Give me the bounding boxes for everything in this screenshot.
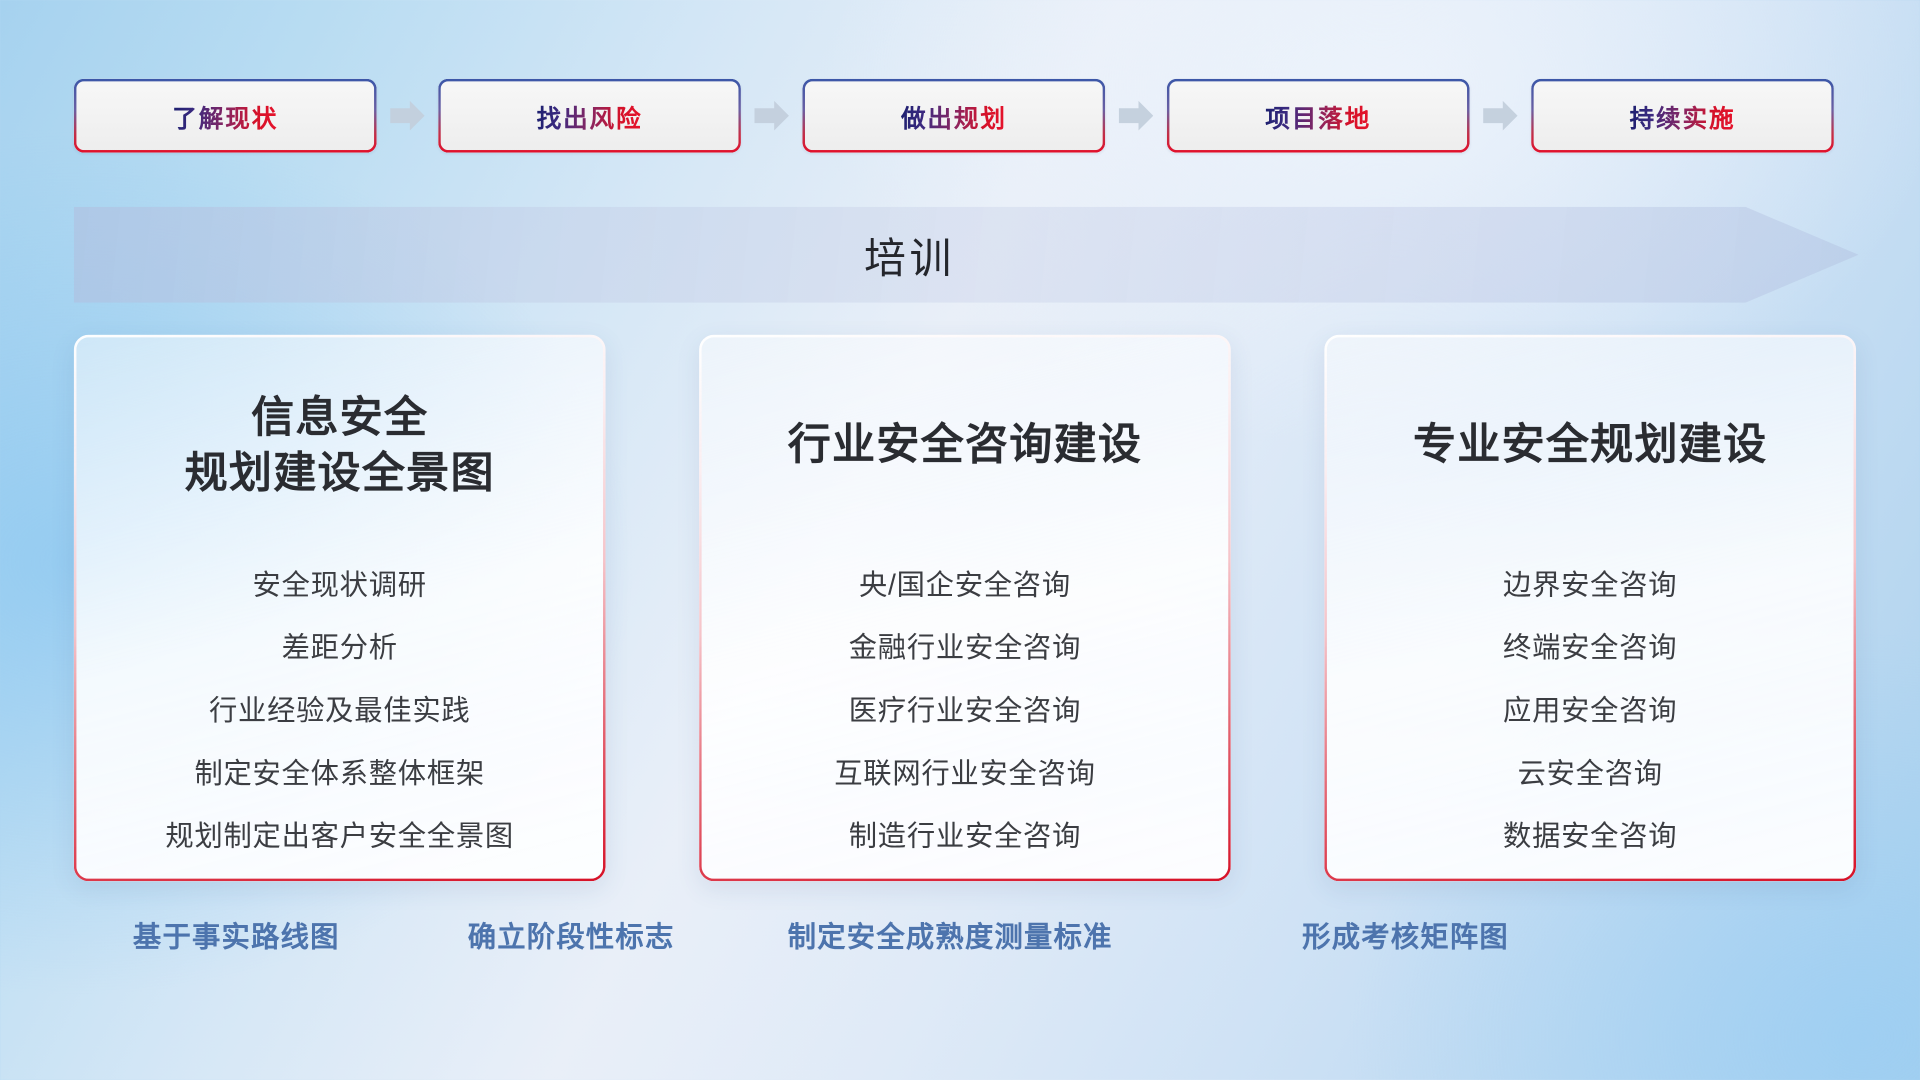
step-box-5[interactable]: 持续实施 xyxy=(1531,79,1834,153)
card-3-title-line-1: 专业安全规划建设 xyxy=(1361,418,1819,474)
list-item: 央/国企安全咨询 xyxy=(859,561,1071,603)
footer-label-4: 形成考核矩阵图 xyxy=(1302,913,1509,955)
footer-label-row: 基于事实路线图 确立阶段性标志 制定安全成熟度测量标准 形成考核矩阵图 xyxy=(0,913,1920,975)
list-item: 金融行业安全咨询 xyxy=(849,624,1081,666)
list-item: 安全现状调研 xyxy=(253,561,427,603)
list-item: 应用安全咨询 xyxy=(1503,687,1677,729)
card-3-title: 专业安全规划建设 xyxy=(1361,389,1819,502)
step-label-4: 项目落地 xyxy=(1265,98,1371,134)
arrow-right-icon-1 xyxy=(390,101,424,131)
list-item: 数据安全咨询 xyxy=(1503,812,1677,854)
list-item: 云安全咨询 xyxy=(1518,750,1663,792)
step-box-3[interactable]: 做出规划 xyxy=(802,79,1105,153)
list-item: 制定安全体系整体框架 xyxy=(194,750,484,792)
card-1-title-line-1: 信息安全 xyxy=(111,390,569,446)
step-label-5: 持续实施 xyxy=(1630,98,1736,134)
list-item: 制造行业安全咨询 xyxy=(849,812,1081,854)
step-box-4[interactable]: 项目落地 xyxy=(1167,79,1470,153)
card-3[interactable]: 专业安全规划建设 边界安全咨询 终端安全咨询 应用安全咨询 云安全咨询 数据安全… xyxy=(1324,335,1856,881)
card-2-list: 央/国企安全咨询 金融行业安全咨询 医疗行业安全咨询 互联网行业安全咨询 制造行… xyxy=(736,561,1194,854)
list-item: 边界安全咨询 xyxy=(1503,561,1677,603)
list-item: 规划制定出客户安全全景图 xyxy=(165,812,514,854)
training-banner: 培训 xyxy=(74,207,1859,303)
card-1-list: 安全现状调研 差距分析 行业经验及最佳实践 制定安全体系整体框架 规划制定出客户… xyxy=(111,561,569,854)
card-2[interactable]: 行业安全咨询建设 央/国企安全咨询 金融行业安全咨询 医疗行业安全咨询 互联网行… xyxy=(699,335,1231,881)
card-3-list: 边界安全咨询 终端安全咨询 应用安全咨询 云安全咨询 数据安全咨询 xyxy=(1361,561,1819,854)
process-step-row: 了解现状 找出风险 做出规划 项目落地 持续实施 xyxy=(74,79,1856,153)
step-label-3: 做出规划 xyxy=(901,98,1007,134)
footer-label-3: 制定安全成熟度测量标准 xyxy=(788,913,1113,955)
arrow-right-icon-4 xyxy=(1483,101,1517,131)
slide-stage: 了解现状 找出风险 做出规划 项目落地 持续实施 培训 xyxy=(0,0,1920,1080)
card-2-title: 行业安全咨询建设 xyxy=(736,389,1194,502)
step-box-1[interactable]: 了解现状 xyxy=(74,79,377,153)
footer-label-2: 确立阶段性标志 xyxy=(468,913,675,955)
arrow-right-icon-3 xyxy=(1119,101,1153,131)
list-item: 医疗行业安全咨询 xyxy=(849,687,1081,729)
step-label-2: 找出风险 xyxy=(537,98,643,134)
banner-title: 培训 xyxy=(74,207,1745,303)
arrow-right-icon-2 xyxy=(754,101,788,131)
list-item: 互联网行业安全咨询 xyxy=(834,750,1095,792)
card-1-title: 信息安全 规划建设全景图 xyxy=(111,389,569,502)
footer-label-1: 基于事实路线图 xyxy=(133,913,340,955)
card-row: 信息安全 规划建设全景图 安全现状调研 差距分析 行业经验及最佳实践 制定安全体… xyxy=(74,335,1856,881)
list-item: 行业经验及最佳实践 xyxy=(209,687,470,729)
list-item: 终端安全咨询 xyxy=(1503,624,1677,666)
card-1-title-line-2: 规划建设全景图 xyxy=(111,446,569,502)
card-1[interactable]: 信息安全 规划建设全景图 安全现状调研 差距分析 行业经验及最佳实践 制定安全体… xyxy=(74,335,606,881)
card-2-title-line-1: 行业安全咨询建设 xyxy=(736,418,1194,474)
list-item: 差距分析 xyxy=(282,624,398,666)
step-label-1: 了解现状 xyxy=(172,98,278,134)
step-box-2[interactable]: 找出风险 xyxy=(438,79,741,153)
